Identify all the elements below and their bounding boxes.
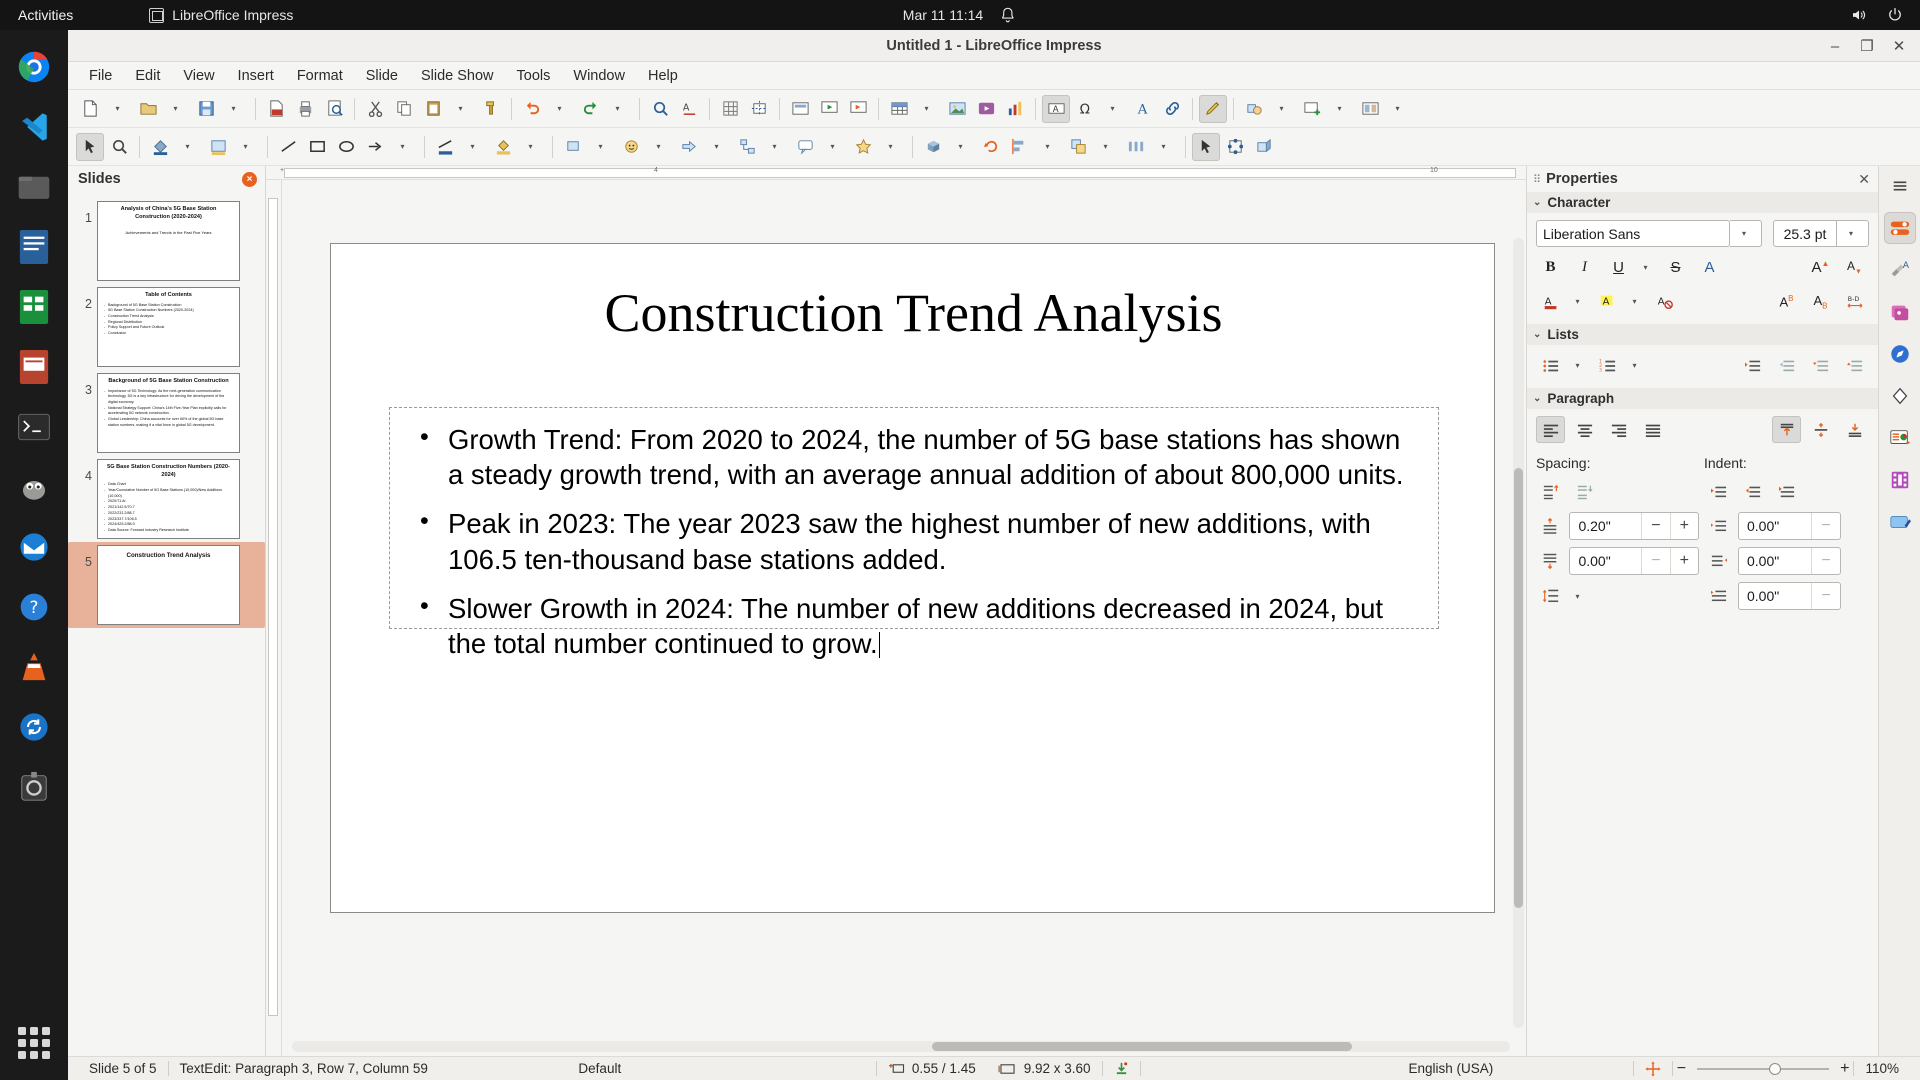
status-bar: Slide 5 of 5 TextEdit: Paragraph 3, Row …: [68, 1056, 1920, 1080]
master-slide-icon[interactable]: [786, 95, 814, 123]
close-button[interactable]: ✕: [1884, 33, 1914, 59]
move-up-icon[interactable]: [1840, 352, 1869, 379]
indent-first-line-icon: [1704, 583, 1733, 610]
sidebar-settings-icon[interactable]: [1884, 170, 1916, 202]
slide-editor[interactable]: Construction Trend Analysis Growth Trend…: [282, 180, 1526, 1056]
thumbnail-title: 5G Base Station Construction Numbers (20…: [103, 464, 234, 479]
section-lists-body: ▾ 123 ▾: [1527, 345, 1878, 388]
thumbnail-bullets: Background of 5G Base Station Constructi…: [103, 303, 234, 337]
align-top-icon[interactable]: [1772, 416, 1801, 443]
show-draw-functions-icon[interactable]: [1199, 95, 1227, 123]
slide-thumbnail-3[interactable]: 3 Background of 5G Base Station Construc…: [68, 370, 265, 456]
status-language[interactable]: English (USA): [1398, 1061, 1505, 1076]
area-style-icon[interactable]: [204, 133, 232, 161]
thumbnail-canvas[interactable]: Table of Contents Background of 5G Base …: [97, 287, 240, 367]
save-dropdown-icon[interactable]: ▾: [221, 95, 249, 123]
power-icon[interactable]: [1886, 6, 1904, 24]
object-size-icon: [998, 1062, 1017, 1076]
table-icon[interactable]: [885, 95, 913, 123]
window-titlebar: Untitled 1 - LibreOffice Impress – ❐ ✕: [68, 30, 1920, 62]
status-edit-mode: TextEdit: Paragraph 3, Row 7, Column 59: [169, 1061, 439, 1076]
slide-thumbnail-2[interactable]: 2 Table of Contents Background of 5G Bas…: [68, 284, 265, 370]
thumbnail-title: Background of 5G Base Station Constructi…: [103, 378, 234, 386]
dock-item-writer[interactable]: [11, 224, 57, 270]
dock-item-terminal[interactable]: [11, 404, 57, 450]
font-name-dropdown-icon[interactable]: ▾: [1730, 220, 1762, 247]
fontwork-icon[interactable]: A: [1129, 95, 1157, 123]
line-color-icon[interactable]: [431, 133, 459, 161]
thumbnail-bullets: Data Chart Year/Cumulative Number of 5G …: [103, 482, 234, 534]
copy-icon[interactable]: [390, 95, 418, 123]
line-spacing-dropdown-icon[interactable]: ▾: [1570, 583, 1588, 610]
edit-area: + 4 10 Construction Trend Analysis Growt…: [266, 166, 1526, 1056]
arrow-shape-icon[interactable]: [361, 133, 389, 161]
zoom-track[interactable]: [1697, 1068, 1829, 1070]
undo-icon[interactable]: [518, 95, 546, 123]
menu-edit[interactable]: Edit: [124, 65, 171, 87]
impress-window: Untitled 1 - LibreOffice Impress – ❐ ✕ F…: [68, 30, 1920, 1080]
slide-title-textbox[interactable]: Construction Trend Analysis: [391, 284, 1436, 343]
minimize-button[interactable]: –: [1820, 33, 1850, 59]
section-paragraph-header[interactable]: ⌄ Paragraph: [1527, 388, 1878, 409]
zoom-knob[interactable]: [1769, 1063, 1781, 1075]
slide-number: 5: [78, 545, 92, 569]
star-dropdown-icon[interactable]: ▾: [878, 133, 906, 161]
callout-icon[interactable]: [791, 133, 819, 161]
underline-dropdown-icon[interactable]: ▾: [1638, 254, 1656, 281]
symbol-shape-dropdown-icon[interactable]: ▾: [646, 133, 674, 161]
chevron-down-icon: ⌄: [1533, 329, 1541, 340]
align-right-icon[interactable]: [1604, 416, 1633, 443]
highlight-color-icon[interactable]: A: [1593, 288, 1622, 315]
cut-icon[interactable]: [361, 95, 389, 123]
spacing-above-increment[interactable]: +: [1670, 513, 1698, 539]
dock-item-thunderbird[interactable]: [11, 524, 57, 570]
fill-color-icon[interactable]: [146, 133, 174, 161]
volume-icon[interactable]: [1850, 6, 1868, 24]
align-center-icon[interactable]: [1570, 416, 1599, 443]
character-format-row-1: B I U ▾ S A A▲ A▼: [1536, 254, 1869, 281]
sidebar-tab-shapes[interactable]: [1884, 380, 1916, 412]
status-cursor-position: 0.55 / 1.45: [877, 1061, 987, 1076]
show-applications-button[interactable]: [11, 1020, 57, 1066]
dock-item-firefox[interactable]: [11, 44, 57, 90]
rectangle-icon[interactable]: [303, 133, 331, 161]
bell-icon[interactable]: [999, 6, 1017, 24]
indent-icon-group: [1704, 478, 1867, 505]
font-size-input[interactable]: 25.3 pt: [1773, 220, 1837, 247]
dock-item-vlc[interactable]: [11, 644, 57, 690]
zoom-in-button[interactable]: +: [1836, 1060, 1853, 1078]
superscript-icon[interactable]: AB: [1772, 288, 1801, 315]
spacing-above-row: 0.20" − + 0.00" −: [1536, 512, 1869, 540]
activities-button[interactable]: Activities: [0, 7, 87, 23]
unordered-list-icon[interactable]: [1536, 352, 1565, 379]
svg-text:B-D: B-D: [1847, 296, 1859, 303]
slide-thumbnail-list[interactable]: 1 Analysis of China's 5G Base Station Co…: [68, 192, 265, 1056]
align-middle-icon[interactable]: [1806, 416, 1835, 443]
glue-points-icon[interactable]: [1221, 133, 1249, 161]
symbol-shape-icon[interactable]: [617, 133, 645, 161]
helplines-icon[interactable]: [745, 95, 773, 123]
section-character-header[interactable]: ⌄ Character: [1527, 192, 1878, 213]
promote-icon[interactable]: [1772, 352, 1801, 379]
redo-dropdown-icon[interactable]: ▾: [605, 95, 633, 123]
thumbnail-canvas[interactable]: Construction Trend Analysis: [97, 545, 240, 625]
spacing-below-value[interactable]: 0.00": [1570, 553, 1641, 569]
spacing-below-decrement[interactable]: −: [1641, 548, 1669, 574]
shadow-icon[interactable]: A: [1695, 254, 1724, 281]
flowchart-dropdown-icon[interactable]: ▾: [762, 133, 790, 161]
indent-first-line-decrement[interactable]: −: [1811, 583, 1840, 609]
chart-icon[interactable]: [1001, 95, 1029, 123]
open-icon[interactable]: [134, 95, 162, 123]
sidebar-header: ⠿ Properties ✕: [1527, 166, 1878, 192]
svg-text:A: A: [682, 102, 689, 113]
font-color-icon[interactable]: A: [1536, 288, 1565, 315]
decrease-indent-icon[interactable]: [1738, 478, 1767, 505]
section-paragraph-label: Paragraph: [1547, 391, 1614, 406]
indent-after-value[interactable]: 0.00": [1739, 553, 1811, 569]
spacing-above-value[interactable]: 0.20": [1570, 518, 1641, 534]
dock-item-help[interactable]: ?: [11, 584, 57, 630]
vertical-scrollbar[interactable]: [1513, 238, 1524, 1028]
special-character-icon[interactable]: Ω: [1071, 95, 1099, 123]
window-title: Untitled 1 - LibreOffice Impress: [886, 38, 1101, 54]
maximize-button[interactable]: ❐: [1852, 33, 1882, 59]
dock-item-calc[interactable]: [11, 284, 57, 330]
menu-file[interactable]: File: [78, 65, 123, 87]
spacing-indent-icons: [1536, 478, 1869, 505]
ordered-list-icon[interactable]: 123: [1593, 352, 1622, 379]
toggle-extrusion-icon[interactable]: [1250, 133, 1278, 161]
scrollbar-thumb[interactable]: [1514, 468, 1523, 908]
app-window-icon: [149, 8, 164, 23]
dock-item-impress[interactable]: [11, 344, 57, 390]
sidebar-tab-navigator[interactable]: [1884, 338, 1916, 370]
thumbnail-bullet: National Strategy Support: China's 14th …: [103, 406, 234, 417]
arrow-shape-dropdown-icon[interactable]: ▾: [390, 133, 418, 161]
gnome-top-bar: Activities LibreOffice Impress Mar 11 11…: [0, 0, 1920, 30]
block-arrow-icon[interactable]: [675, 133, 703, 161]
spacing-above-stepper[interactable]: 0.20" − +: [1569, 512, 1699, 540]
rotate-icon[interactable]: [977, 133, 1005, 161]
thumbnail-canvas[interactable]: Background of 5G Base Station Constructi…: [97, 373, 240, 453]
hanging-indent-icon[interactable]: [1772, 478, 1801, 505]
object-size-value: 9.92 x 3.60: [1024, 1061, 1091, 1076]
font-size-dropdown-icon[interactable]: ▾: [1837, 220, 1869, 247]
line-spacing-row: ▾ 0.00" −: [1536, 582, 1869, 610]
demote-icon[interactable]: [1738, 352, 1767, 379]
menu-help[interactable]: Help: [637, 65, 689, 87]
standard-toolbar: ▾ ▾ ▾ ▾ ▾ ▾ A ▾ A Ω: [68, 90, 1920, 128]
arrange-dropdown-icon[interactable]: ▾: [1093, 133, 1121, 161]
new-slide-dropdown-icon[interactable]: ▾: [1327, 95, 1355, 123]
print-preview-icon[interactable]: [320, 95, 348, 123]
unordered-list-dropdown-icon[interactable]: ▾: [1570, 352, 1588, 379]
new-icon[interactable]: [76, 95, 104, 123]
export-pdf-icon[interactable]: [262, 95, 290, 123]
slide-thumbnail-1[interactable]: 1 Analysis of China's 5G Base Station Co…: [68, 198, 265, 284]
insert-text-box-icon[interactable]: A: [1042, 95, 1070, 123]
sidebar-tab-master-slides[interactable]: [1884, 422, 1916, 454]
sidebar-tab-styles[interactable]: A: [1884, 254, 1916, 286]
chevron-down-icon: ⌄: [1533, 393, 1541, 404]
menu-slide-show[interactable]: Slide Show: [410, 65, 505, 87]
slide-number: 2: [78, 287, 92, 311]
spacing-below-stepper[interactable]: 0.00" − +: [1569, 547, 1699, 575]
redo-icon[interactable]: [576, 95, 604, 123]
decrease-spacing-icon[interactable]: [1570, 478, 1599, 505]
thumbnail-title: Construction Trend Analysis: [103, 552, 234, 560]
topbar-system-area[interactable]: [1850, 6, 1904, 24]
spacing-above-decrement[interactable]: −: [1641, 513, 1669, 539]
paste-icon[interactable]: [419, 95, 447, 123]
strikethrough-icon[interactable]: S: [1661, 254, 1690, 281]
status-save-indicator[interactable]: [1103, 1061, 1140, 1076]
clear-formatting-icon[interactable]: A: [1650, 288, 1679, 315]
spelling-icon[interactable]: A: [675, 95, 703, 123]
ellipse-icon[interactable]: [332, 133, 360, 161]
ruler-bar: [284, 168, 1516, 178]
menubar: File Edit View Insert Format Slide Slide…: [68, 62, 1920, 90]
font-color-dropdown-icon[interactable]: ▾: [1570, 288, 1588, 315]
increase-spacing-icon[interactable]: [1536, 478, 1565, 505]
slide-layout-icon[interactable]: [1356, 95, 1384, 123]
indent-label: Indent:: [1704, 455, 1867, 471]
spacing-indent-labels: Spacing: Indent:: [1536, 450, 1869, 471]
indent-before-stepper[interactable]: 0.00" −: [1738, 512, 1841, 540]
menu-insert[interactable]: Insert: [227, 65, 285, 87]
distribute-icon[interactable]: [1122, 133, 1150, 161]
close-icon[interactable]: ×: [242, 172, 257, 187]
indent-first-line-value[interactable]: 0.00": [1739, 588, 1811, 604]
thumbnail-bullets: Importance of 5G Technology: As the next…: [103, 389, 234, 429]
menu-format[interactable]: Format: [286, 65, 354, 87]
slide-content-textbox[interactable]: Growth Trend: From 2020 to 2024, the num…: [389, 407, 1439, 629]
sidebar-close-icon[interactable]: ✕: [1858, 171, 1870, 188]
fit-slide-icon: [1645, 1061, 1661, 1077]
new-slide-icon[interactable]: [1298, 95, 1326, 123]
fill-icon[interactable]: [489, 133, 517, 161]
basic-shapes-icon[interactable]: [1240, 95, 1268, 123]
section-character-label: Character: [1547, 195, 1610, 210]
spacing-above-icon: [1536, 513, 1564, 540]
spacing-below-increment[interactable]: +: [1670, 548, 1698, 574]
sidebar-tab-rail: A: [1878, 166, 1920, 1056]
line-icon[interactable]: [274, 133, 302, 161]
indent-after-icon: [1704, 548, 1733, 575]
indent-after-stepper[interactable]: 0.00" −: [1738, 547, 1841, 575]
thumbnail-canvas[interactable]: Analysis of China's 5G Base Station Cons…: [97, 201, 240, 281]
indent-before-decrement[interactable]: −: [1811, 513, 1840, 539]
sidebar-tab-properties[interactable]: [1884, 212, 1916, 244]
line-spacing-icon[interactable]: [1536, 583, 1565, 610]
dock-item-software[interactable]: [11, 764, 57, 810]
start-slideshow-icon[interactable]: [815, 95, 843, 123]
thumbnail-bullet: Conclusion: [103, 331, 234, 337]
thumbnail-title: Table of Contents: [103, 292, 234, 300]
indent-first-line-stepper[interactable]: 0.00" −: [1738, 582, 1841, 610]
slides-panel: Slides × 1 Analysis of China's 5G Base S…: [68, 166, 266, 1056]
star-icon[interactable]: [849, 133, 877, 161]
thumbnail-bullet: Year/Cumulative Number of 5G Base Statio…: [103, 488, 234, 499]
svg-text:Ω: Ω: [1079, 102, 1089, 117]
indent-before-value[interactable]: 0.00": [1739, 518, 1811, 534]
subscript-icon[interactable]: AB: [1806, 288, 1835, 315]
fill-color-dropdown-icon[interactable]: ▾: [175, 133, 203, 161]
section-lists-header[interactable]: ⌄ Lists: [1527, 324, 1878, 345]
section-paragraph-body: Spacing: Indent:: [1527, 409, 1878, 619]
print-icon[interactable]: [291, 95, 319, 123]
open-dropdown-icon[interactable]: ▾: [163, 95, 191, 123]
horizontal-scrollbar[interactable]: [292, 1041, 1510, 1052]
desktop-dock: ?: [0, 30, 68, 1080]
3d-dropdown-icon[interactable]: ▾: [948, 133, 976, 161]
zoom-icon[interactable]: [105, 133, 133, 161]
slide-bullet-1[interactable]: Growth Trend: From 2020 to 2024, the num…: [408, 422, 1420, 492]
scrollbar-thumb[interactable]: [932, 1042, 1352, 1051]
text-cursor: [879, 632, 881, 658]
menu-slide[interactable]: Slide: [355, 65, 409, 87]
slide-bullet-3[interactable]: Slower Growth in 2024: The number of new…: [408, 591, 1420, 661]
dock-item-vscode[interactable]: [11, 104, 57, 150]
svg-text:A: A: [1657, 296, 1664, 307]
find-replace-icon[interactable]: [646, 95, 674, 123]
menu-tools[interactable]: Tools: [506, 65, 562, 87]
ruler-tick: 4: [654, 167, 658, 174]
dock-item-sync[interactable]: [11, 704, 57, 750]
flowchart-icon[interactable]: [733, 133, 761, 161]
menu-window[interactable]: Window: [562, 65, 636, 87]
thumbnail-bullet: Importance of 5G Technology: As the next…: [103, 389, 234, 406]
fit-slide-button[interactable]: [1634, 1061, 1672, 1077]
thumbnail-bullet: Global Leadership: China accounts for ov…: [103, 417, 234, 428]
justify-icon[interactable]: [1638, 416, 1667, 443]
sidebar-tab-gallery[interactable]: [1884, 296, 1916, 328]
chevron-down-icon: ⌄: [1533, 197, 1541, 208]
section-character-body: Liberation Sans ▾ 25.3 pt ▾ B I U ▾ S A: [1527, 213, 1878, 324]
align-objects-dropdown-icon[interactable]: ▾: [1035, 133, 1063, 161]
alignment-row: [1536, 416, 1869, 443]
special-character-dropdown-icon[interactable]: ▾: [1100, 95, 1128, 123]
horizontal-ruler[interactable]: + 4 10: [266, 166, 1526, 180]
ruler-bar-vertical: [268, 198, 278, 1016]
sidebar-tab-slide-transition[interactable]: [1884, 506, 1916, 538]
main-area: Slides × 1 Analysis of China's 5G Base S…: [68, 166, 1920, 1056]
arrange-icon[interactable]: [1064, 133, 1092, 161]
media-icon[interactable]: [972, 95, 1000, 123]
zoom-out-button[interactable]: −: [1673, 1060, 1690, 1078]
zoom-slider[interactable]: − +: [1673, 1060, 1854, 1078]
drag-handle-icon[interactable]: ⠿: [1533, 173, 1540, 186]
select-icon[interactable]: [76, 133, 104, 161]
slides-panel-header: Slides ×: [68, 166, 265, 192]
align-left-icon[interactable]: [1536, 416, 1565, 443]
status-object-size: 9.92 x 3.60: [987, 1061, 1102, 1076]
underline-icon[interactable]: U: [1604, 254, 1633, 281]
dock-item-files[interactable]: [11, 164, 57, 210]
svg-text:A: A: [1602, 296, 1609, 307]
image-icon[interactable]: [943, 95, 971, 123]
thumbnail-title: Analysis of China's 5G Base Station Cons…: [103, 206, 234, 221]
slide-number: 4: [78, 459, 92, 483]
svg-text:A: A: [1902, 260, 1909, 271]
block-arrow-dropdown-icon[interactable]: ▾: [704, 133, 732, 161]
slide-canvas[interactable]: Construction Trend Analysis Growth Trend…: [330, 243, 1495, 913]
italic-icon[interactable]: I: [1570, 254, 1599, 281]
start-from-current-icon[interactable]: [844, 95, 872, 123]
vertical-ruler[interactable]: [266, 180, 282, 1056]
basic-shape-dropdown-icon[interactable]: ▾: [588, 133, 616, 161]
paste-dropdown-icon[interactable]: ▾: [448, 95, 476, 123]
zoom-level-label[interactable]: 110%: [1854, 1061, 1910, 1076]
sidebar-tab-animation[interactable]: [1884, 464, 1916, 496]
increase-size-icon[interactable]: A▲: [1806, 254, 1835, 281]
slide-number: 3: [78, 373, 92, 397]
window-controls: – ❐ ✕: [1820, 30, 1914, 62]
distribute-dropdown-icon[interactable]: ▾: [1151, 133, 1179, 161]
callout-dropdown-icon[interactable]: ▾: [820, 133, 848, 161]
line-color-dropdown-icon[interactable]: ▾: [460, 133, 488, 161]
character-spacing-icon[interactable]: B-D: [1840, 288, 1869, 315]
slide-bullet-3-text: Slower Growth in 2024: The number of new…: [448, 593, 1383, 659]
bold-icon[interactable]: B: [1536, 254, 1565, 281]
topbar-app-indicator[interactable]: LibreOffice Impress: [149, 7, 293, 23]
slide-thumbnail-5[interactable]: 5 Construction Trend Analysis: [68, 542, 265, 628]
save-icon[interactable]: [192, 95, 220, 123]
dock-item-gimp[interactable]: [11, 464, 57, 510]
display-grid-icon[interactable]: [716, 95, 744, 123]
canvas-row: Construction Trend Analysis Growth Trend…: [266, 180, 1526, 1056]
slide-thumbnail-4[interactable]: 4 5G Base Station Construction Numbers (…: [68, 456, 265, 542]
clock-area[interactable]: Mar 11 11:14: [903, 6, 1017, 24]
indent-after-decrement[interactable]: −: [1811, 548, 1840, 574]
ordered-list-dropdown-icon[interactable]: ▾: [1627, 352, 1645, 379]
highlight-dropdown-icon[interactable]: ▾: [1627, 288, 1645, 315]
status-style[interactable]: Default: [567, 1061, 747, 1076]
move-down-icon[interactable]: [1806, 352, 1835, 379]
menu-view[interactable]: View: [172, 65, 225, 87]
area-style-dropdown-icon[interactable]: ▾: [233, 133, 261, 161]
hyperlink-icon[interactable]: [1158, 95, 1186, 123]
decrease-size-icon[interactable]: A▼: [1840, 254, 1869, 281]
clone-formatting-icon[interactable]: [477, 95, 505, 123]
sidebar-title: Properties: [1546, 171, 1852, 187]
status-slide-count: Slide 5 of 5: [78, 1061, 168, 1076]
basic-shapes-dropdown-icon[interactable]: ▾: [1269, 95, 1297, 123]
slide-layout-dropdown-icon[interactable]: ▾: [1385, 95, 1413, 123]
font-name-input[interactable]: Liberation Sans: [1536, 220, 1730, 247]
align-bottom-icon[interactable]: [1840, 416, 1869, 443]
clock-label: Mar 11 11:14: [903, 7, 983, 23]
svg-text:A: A: [1052, 105, 1058, 115]
3d-object-icon[interactable]: [919, 133, 947, 161]
thumbnail-subtitle: Achievements and Trends in the Past Five…: [103, 230, 234, 235]
new-dropdown-icon[interactable]: ▾: [105, 95, 133, 123]
undo-dropdown-icon[interactable]: ▾: [547, 95, 575, 123]
topbar-app-name: LibreOffice Impress: [172, 7, 293, 23]
fill-dropdown-icon[interactable]: ▾: [518, 133, 546, 161]
points-icon[interactable]: [1192, 133, 1220, 161]
table-dropdown-icon[interactable]: ▾: [914, 95, 942, 123]
font-row: Liberation Sans ▾ 25.3 pt ▾: [1536, 220, 1869, 247]
align-objects-icon[interactable]: [1006, 133, 1034, 161]
basic-shape-icon[interactable]: [559, 133, 587, 161]
slide-bullet-2[interactable]: Peak in 2023: The year 2023 saw the high…: [408, 506, 1420, 576]
increase-indent-icon[interactable]: [1704, 478, 1733, 505]
thumbnail-canvas[interactable]: 5G Base Station Construction Numbers (20…: [97, 459, 240, 539]
